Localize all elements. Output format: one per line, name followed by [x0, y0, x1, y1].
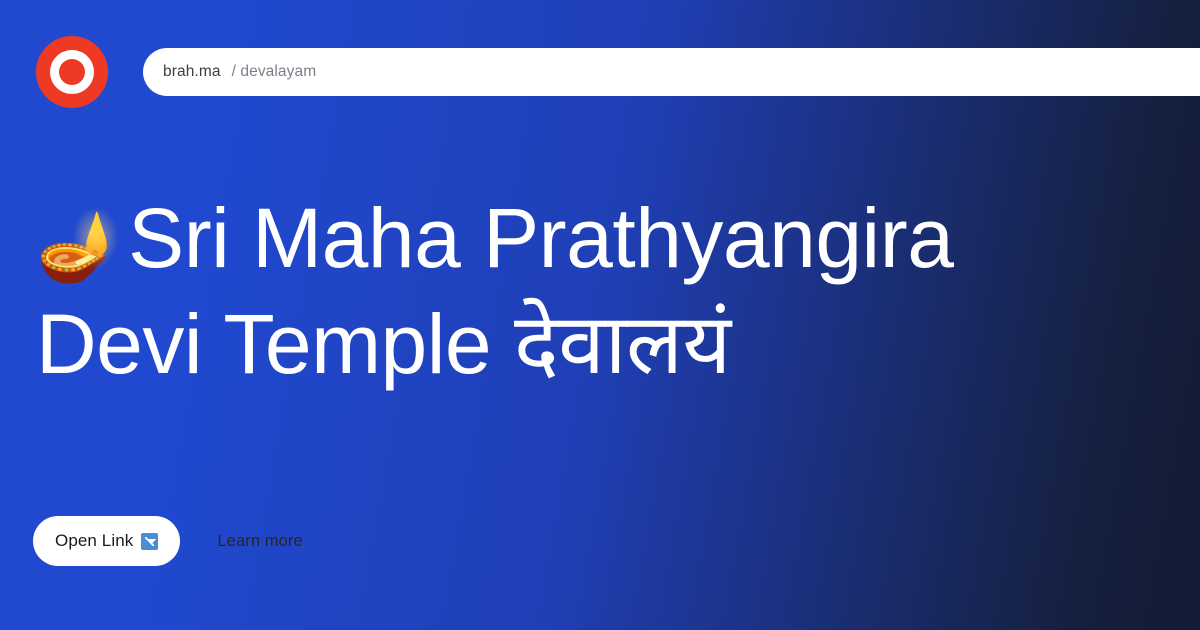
- diya-lamp-icon: 🪔: [36, 207, 120, 286]
- logo-inner-ring: [50, 50, 94, 94]
- open-link-button-label: Open Link: [55, 531, 133, 551]
- url-path: / devalayam: [232, 63, 317, 81]
- page-title-line-1: Sri Maha Prathyangira: [128, 191, 953, 285]
- action-row: Open Link Learn more: [33, 516, 303, 566]
- url-domain: brah.ma: [163, 63, 221, 81]
- logo-center-dot: [59, 59, 85, 85]
- url-bar[interactable]: brah.ma / devalayam: [143, 48, 1200, 96]
- external-link-icon: [141, 533, 158, 550]
- open-link-button[interactable]: Open Link: [33, 516, 180, 566]
- learn-more-link[interactable]: Learn more: [217, 532, 302, 551]
- link-preview-card: brah.ma / devalayam 🪔Sri Maha Prathyangi…: [0, 0, 1200, 630]
- bullseye-logo-icon[interactable]: [36, 36, 108, 108]
- header-bar: brah.ma / devalayam: [0, 0, 1200, 144]
- page-title-line-2: Devi Temple देवालयं: [36, 292, 1176, 398]
- page-title: 🪔Sri Maha Prathyangira Devi Temple देवाल…: [36, 186, 1176, 398]
